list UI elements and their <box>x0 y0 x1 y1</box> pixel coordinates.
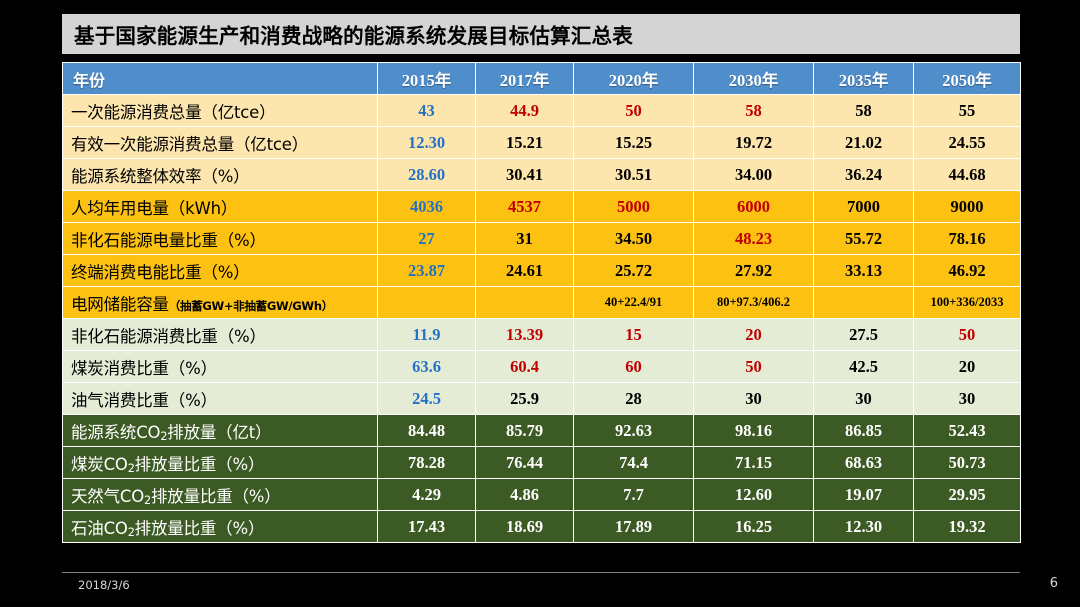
table-cell: 6000 <box>694 191 814 223</box>
table-cell: 12.60 <box>694 479 814 511</box>
table-cell: 30 <box>814 383 914 415</box>
table-cell: 12.30 <box>378 127 476 159</box>
table-cell: 25.72 <box>574 255 694 287</box>
table-cell: 4.29 <box>378 479 476 511</box>
table-cell: 74.4 <box>574 447 694 479</box>
table-cell: 50 <box>694 351 814 383</box>
row-label: 一次能源消费总量（亿tce） <box>63 95 378 127</box>
table-cell: 30.51 <box>574 159 694 191</box>
table-row: 非化石能源电量比重（%）273134.5048.2355.7278.16 <box>63 223 1021 255</box>
table-cell: 4.86 <box>476 479 574 511</box>
table-cell: 24.55 <box>914 127 1021 159</box>
column-header-2015: 2015年 <box>378 63 476 95</box>
table-cell: 7000 <box>814 191 914 223</box>
table-cell: 58 <box>694 95 814 127</box>
data-table-container: 年份 2015年 2017年 2020年 2030年 2035年 2050年 一… <box>62 62 1020 543</box>
table-cell: 84.48 <box>378 415 476 447</box>
table-cell: 23.87 <box>378 255 476 287</box>
table-cell: 80+97.3/406.2 <box>694 287 814 319</box>
table-row: 能源系统CO2排放量（亿t）84.4885.7992.6398.1686.855… <box>63 415 1021 447</box>
table-row: 石油CO2排放量比重（%）17.4318.6917.8916.2512.3019… <box>63 511 1021 543</box>
row-label: 油气消费比重（%） <box>63 383 378 415</box>
table-cell: 50.73 <box>914 447 1021 479</box>
table-cell: 19.72 <box>694 127 814 159</box>
column-header-year-label: 年份 <box>63 63 378 95</box>
table-cell: 30 <box>914 383 1021 415</box>
table-cell: 100+336/2033 <box>914 287 1021 319</box>
table-cell: 5000 <box>574 191 694 223</box>
table-cell: 58 <box>814 95 914 127</box>
row-label: 人均年用电量（kWh） <box>63 191 378 223</box>
table-cell: 15.21 <box>476 127 574 159</box>
row-label: 煤炭CO2排放量比重（%） <box>63 447 378 479</box>
table-cell: 27 <box>378 223 476 255</box>
table-cell: 21.02 <box>814 127 914 159</box>
table-cell: 68.63 <box>814 447 914 479</box>
table-cell: 9000 <box>914 191 1021 223</box>
row-label: 能源系统CO2排放量（亿t） <box>63 415 378 447</box>
row-label: 非化石能源消费比重（%） <box>63 319 378 351</box>
table-cell: 36.24 <box>814 159 914 191</box>
table-cell: 20 <box>914 351 1021 383</box>
table-header-row: 年份 2015年 2017年 2020年 2030年 2035年 2050年 <box>63 63 1021 95</box>
column-header-2017: 2017年 <box>476 63 574 95</box>
table-cell: 16.25 <box>694 511 814 543</box>
table-cell <box>378 287 476 319</box>
table-cell: 63.6 <box>378 351 476 383</box>
row-label: 能源系统整体效率（%） <box>63 159 378 191</box>
table-cell: 85.79 <box>476 415 574 447</box>
column-header-2050: 2050年 <box>914 63 1021 95</box>
table-cell: 30.41 <box>476 159 574 191</box>
table-cell: 34.00 <box>694 159 814 191</box>
row-label: 煤炭消费比重（%） <box>63 351 378 383</box>
row-label: 有效一次能源消费总量（亿tce） <box>63 127 378 159</box>
row-label-note: （抽蓄GW+非抽蓄GW/GWh） <box>169 299 333 313</box>
table-cell: 46.92 <box>914 255 1021 287</box>
table-row: 非化石能源消费比重（%）11.913.39152027.550 <box>63 319 1021 351</box>
page-title: 基于国家能源生产和消费战略的能源系统发展目标估算汇总表 <box>62 19 633 49</box>
energy-targets-table: 年份 2015年 2017年 2020年 2030年 2035年 2050年 一… <box>62 62 1021 543</box>
table-cell: 40+22.4/91 <box>574 287 694 319</box>
table-row: 油气消费比重（%）24.525.928303030 <box>63 383 1021 415</box>
row-label: 非化石能源电量比重（%） <box>63 223 378 255</box>
table-cell: 19.32 <box>914 511 1021 543</box>
table-cell: 7.7 <box>574 479 694 511</box>
slide-canvas: 基于国家能源生产和消费战略的能源系统发展目标估算汇总表 年份 2015年 201… <box>0 0 1080 607</box>
table-cell: 4537 <box>476 191 574 223</box>
table-cell: 34.50 <box>574 223 694 255</box>
table-cell: 50 <box>914 319 1021 351</box>
table-cell: 98.16 <box>694 415 814 447</box>
table-row: 电网储能容量（抽蓄GW+非抽蓄GW/GWh）40+22.4/9180+97.3/… <box>63 287 1021 319</box>
table-cell: 18.69 <box>476 511 574 543</box>
table-row: 天然气CO2排放量比重（%）4.294.867.712.6019.0729.95 <box>63 479 1021 511</box>
table-cell: 33.13 <box>814 255 914 287</box>
table-row: 有效一次能源消费总量（亿tce）12.3015.2115.2519.7221.0… <box>63 127 1021 159</box>
table-cell: 55.72 <box>814 223 914 255</box>
table-cell: 28 <box>574 383 694 415</box>
column-header-2030: 2030年 <box>694 63 814 95</box>
table-cell: 71.15 <box>694 447 814 479</box>
table-cell: 60 <box>574 351 694 383</box>
table-cell: 28.60 <box>378 159 476 191</box>
footer-date: 2018/3/6 <box>78 578 130 592</box>
column-header-2035: 2035年 <box>814 63 914 95</box>
row-label: 电网储能容量（抽蓄GW+非抽蓄GW/GWh） <box>63 287 378 319</box>
column-header-2020: 2020年 <box>574 63 694 95</box>
table-cell: 20 <box>694 319 814 351</box>
footer-page-number: 6 <box>1050 576 1058 591</box>
table-cell: 29.95 <box>914 479 1021 511</box>
table-cell: 92.63 <box>574 415 694 447</box>
table-cell: 24.5 <box>378 383 476 415</box>
table-cell: 43 <box>378 95 476 127</box>
table-row: 一次能源消费总量（亿tce）4344.950585855 <box>63 95 1021 127</box>
table-row: 煤炭消费比重（%）63.660.4605042.520 <box>63 351 1021 383</box>
table-body: 一次能源消费总量（亿tce）4344.950585855有效一次能源消费总量（亿… <box>63 95 1021 543</box>
table-cell: 27.92 <box>694 255 814 287</box>
table-cell: 4036 <box>378 191 476 223</box>
table-cell: 17.89 <box>574 511 694 543</box>
table-row: 终端消费电能比重（%）23.8724.6125.7227.9233.1346.9… <box>63 255 1021 287</box>
table-cell: 24.61 <box>476 255 574 287</box>
table-cell: 78.16 <box>914 223 1021 255</box>
table-cell <box>814 287 914 319</box>
table-row: 能源系统整体效率（%）28.6030.4130.5134.0036.2444.6… <box>63 159 1021 191</box>
table-cell: 52.43 <box>914 415 1021 447</box>
table-cell: 44.68 <box>914 159 1021 191</box>
row-label: 天然气CO2排放量比重（%） <box>63 479 378 511</box>
row-label: 石油CO2排放量比重（%） <box>63 511 378 543</box>
table-cell: 50 <box>574 95 694 127</box>
table-cell: 60.4 <box>476 351 574 383</box>
table-cell: 27.5 <box>814 319 914 351</box>
table-row: 煤炭CO2排放量比重（%）78.2876.4474.471.1568.6350.… <box>63 447 1021 479</box>
table-cell: 15 <box>574 319 694 351</box>
table-cell: 78.28 <box>378 447 476 479</box>
footer-divider <box>62 572 1020 573</box>
table-cell <box>476 287 574 319</box>
table-cell: 30 <box>694 383 814 415</box>
table-cell: 25.9 <box>476 383 574 415</box>
table-cell: 13.39 <box>476 319 574 351</box>
table-cell: 11.9 <box>378 319 476 351</box>
table-cell: 15.25 <box>574 127 694 159</box>
table-row: 人均年用电量（kWh）403645375000600070009000 <box>63 191 1021 223</box>
table-cell: 86.85 <box>814 415 914 447</box>
table-cell: 42.5 <box>814 351 914 383</box>
table-cell: 17.43 <box>378 511 476 543</box>
table-cell: 55 <box>914 95 1021 127</box>
table-cell: 48.23 <box>694 223 814 255</box>
table-cell: 76.44 <box>476 447 574 479</box>
table-cell: 12.30 <box>814 511 914 543</box>
slide-title-bar: 基于国家能源生产和消费战略的能源系统发展目标估算汇总表 <box>62 14 1020 54</box>
table-cell: 19.07 <box>814 479 914 511</box>
table-cell: 31 <box>476 223 574 255</box>
row-label: 终端消费电能比重（%） <box>63 255 378 287</box>
table-cell: 44.9 <box>476 95 574 127</box>
